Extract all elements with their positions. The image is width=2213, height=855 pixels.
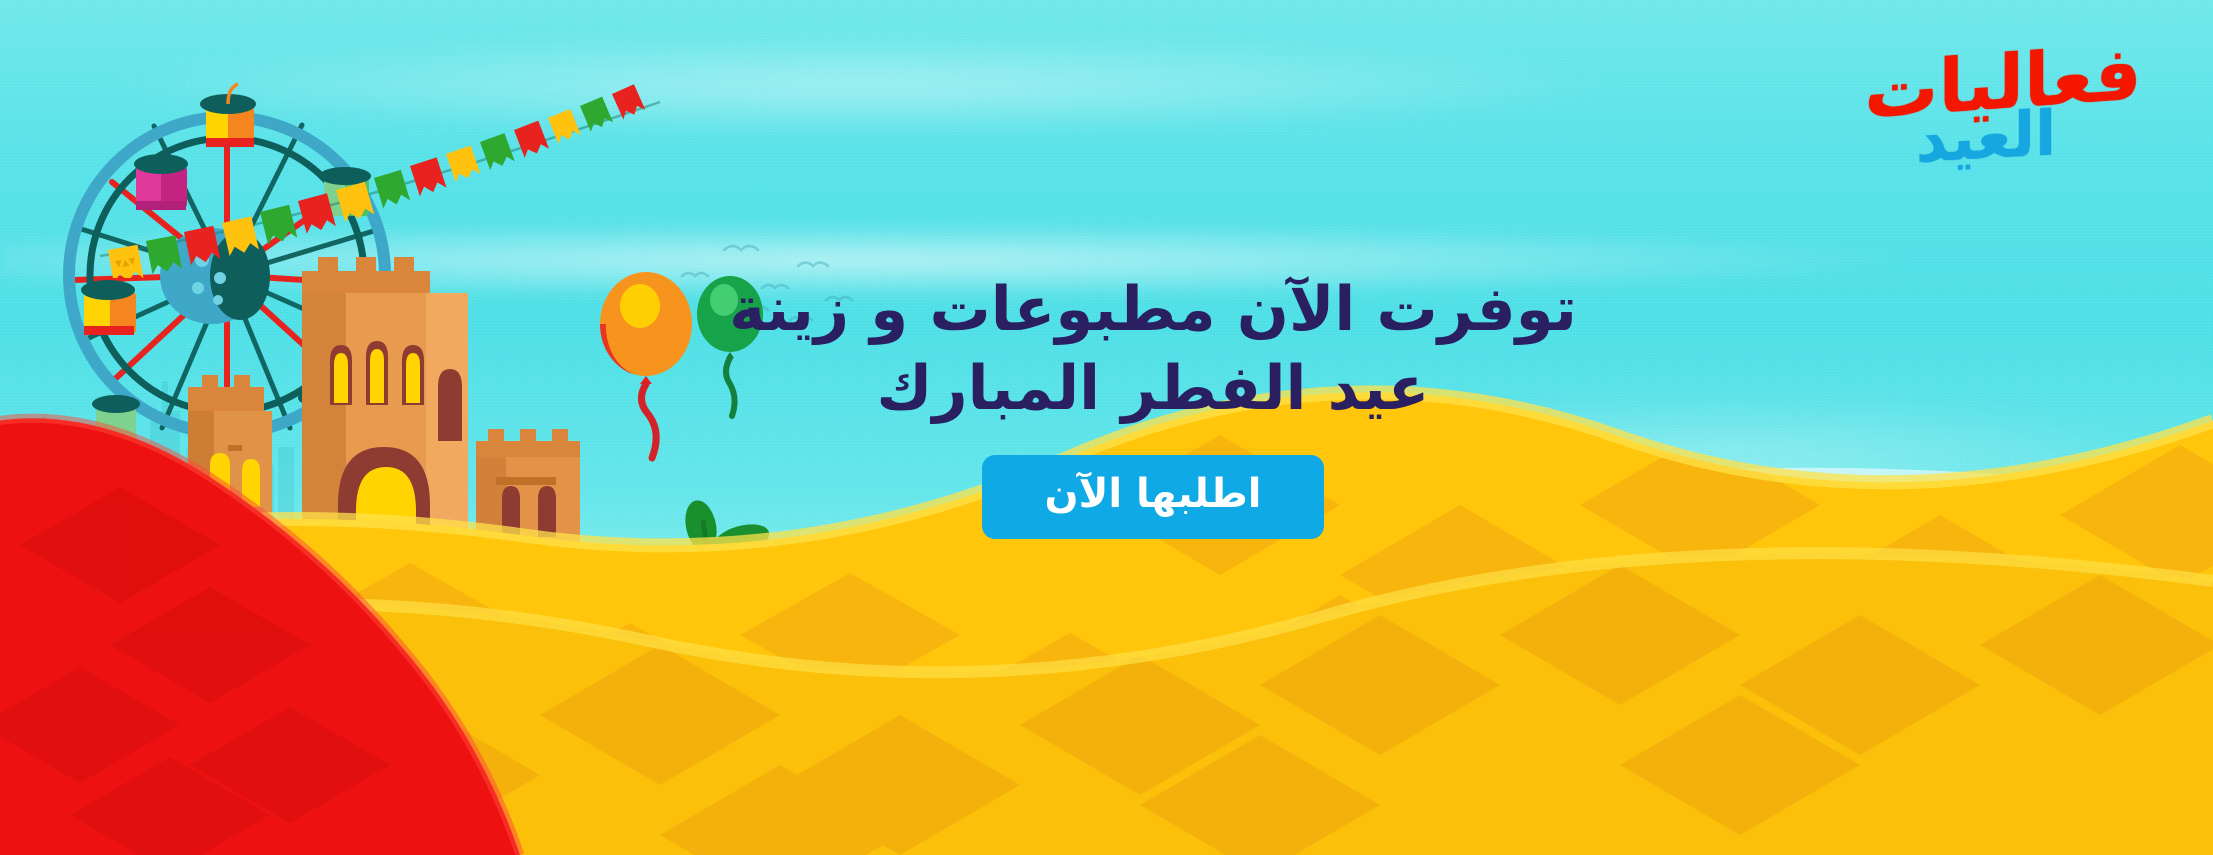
eid-events-logo[interactable]: فعاليات العيد: [1823, 48, 2183, 198]
headline-line-2: عيد الفطر المبارك: [713, 349, 1593, 428]
cta-container: اطلبها الآن: [713, 455, 1593, 539]
order-now-button[interactable]: اطلبها الآن: [982, 455, 1323, 539]
promo-copy-block: توفرت الآن مطبوعات و زينة عيد الفطر المب…: [713, 270, 1593, 539]
page-title: توفرت الآن مطبوعات و زينة عيد الفطر المب…: [713, 270, 1593, 429]
headline-line-1: توفرت الآن مطبوعات و زينة: [729, 274, 1577, 345]
eid-promo-banner: ▼▲▼: [0, 0, 2213, 855]
red-hill: [0, 345, 660, 855]
